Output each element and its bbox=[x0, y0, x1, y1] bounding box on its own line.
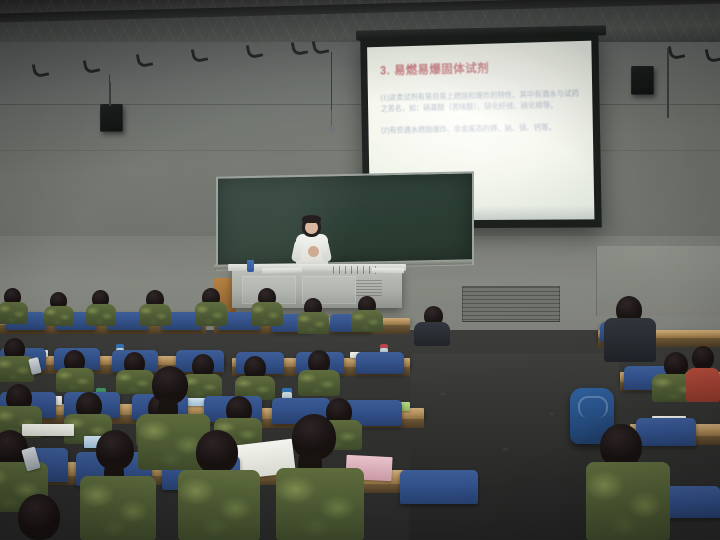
pendant-bulb bbox=[328, 126, 335, 133]
wall-speaker-right-icon bbox=[631, 66, 654, 95]
student-head bbox=[692, 346, 714, 370]
notebook[interactable] bbox=[22, 424, 74, 436]
slide-title: 3. 易燃易爆固体试剂 bbox=[380, 57, 579, 78]
student-body bbox=[586, 462, 670, 540]
blackboard-sheen bbox=[218, 173, 472, 268]
student-body bbox=[0, 302, 28, 324]
student-body bbox=[686, 368, 720, 402]
student-body bbox=[414, 322, 450, 346]
wall-speaker-left-icon bbox=[100, 104, 123, 132]
student-head bbox=[196, 430, 238, 474]
slide-body: (1)这类试剂有易自易上燃烧和爆炸的特性。其中有酒水与试药之苦名，如：硝基酸（苦… bbox=[380, 88, 579, 136]
podium-water-bottle[interactable] bbox=[247, 260, 254, 272]
student-body bbox=[604, 318, 656, 362]
backpack-strap bbox=[578, 396, 608, 418]
student-body bbox=[276, 468, 364, 540]
floor-speck bbox=[502, 448, 509, 451]
student-body bbox=[80, 476, 156, 540]
student-body bbox=[182, 374, 222, 398]
teacher-hands bbox=[308, 246, 319, 257]
pendant-wire bbox=[331, 52, 332, 110]
student-body bbox=[56, 368, 94, 392]
floor-speck bbox=[440, 392, 445, 395]
student-body bbox=[178, 470, 260, 540]
student-body bbox=[297, 312, 329, 334]
student-body bbox=[116, 370, 154, 394]
student-body bbox=[351, 310, 383, 332]
seat-back[interactable] bbox=[400, 470, 478, 504]
student-body bbox=[298, 370, 340, 396]
wall-vent bbox=[462, 286, 560, 322]
slide-paragraph: (1)这类试剂有易自易上燃烧和爆炸的特性。其中有酒水与试药之苦名，如：硝基酸（苦… bbox=[380, 88, 579, 115]
teacher-hair bbox=[302, 215, 321, 223]
floor-speck bbox=[550, 412, 554, 415]
lecture-hall-photo: 3. 易燃易爆固体试剂 (1)这类试剂有易自易上燃烧和爆炸的特性。其中有酒水与试… bbox=[0, 0, 720, 540]
student-body bbox=[195, 302, 227, 326]
student-body bbox=[86, 304, 116, 326]
seat-back[interactable] bbox=[356, 352, 404, 374]
student-head bbox=[18, 494, 60, 540]
podium-papers[interactable] bbox=[372, 268, 404, 274]
seat-back[interactable] bbox=[636, 418, 696, 446]
speaker-bracket bbox=[667, 48, 669, 118]
student-body bbox=[251, 302, 283, 326]
wall-seam bbox=[0, 150, 720, 151]
blackboard bbox=[216, 171, 474, 270]
podium-papers[interactable] bbox=[262, 267, 302, 273]
speaker-bracket bbox=[109, 82, 111, 106]
wall-panel-right bbox=[596, 246, 720, 316]
student-body bbox=[139, 304, 171, 326]
slide-paragraph: (2)有些遇水燃烧爆炸、非金属态的钾、钠、镁、钙等。 bbox=[381, 121, 580, 136]
student-body bbox=[44, 306, 74, 326]
